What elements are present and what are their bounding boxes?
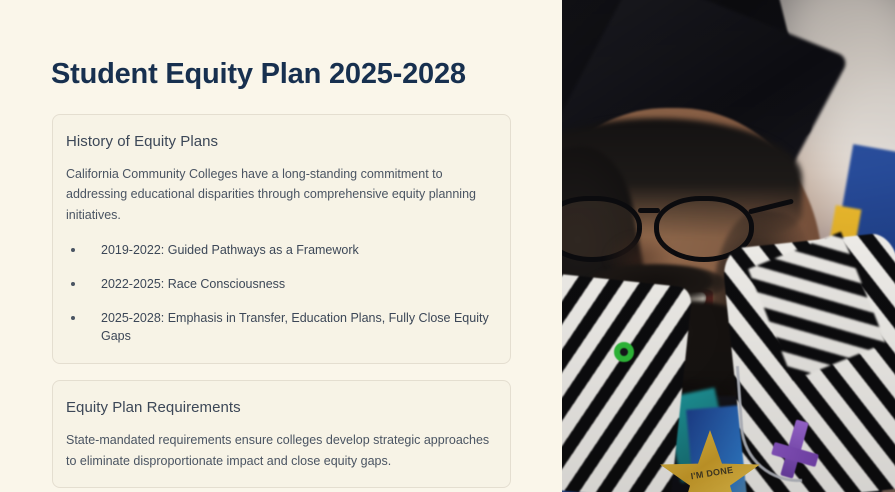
list-item-label: 2022-2025: Race Consciousness <box>101 277 285 291</box>
card-title: History of Equity Plans <box>65 133 496 150</box>
bullet-dot-icon <box>71 316 75 320</box>
list-item: 2025-2028: Emphasis in Transfer, Educati… <box>65 309 496 345</box>
graduate-photo: I'M DONE <box>562 0 895 492</box>
card-body: California Community Colleges have a lon… <box>65 164 495 225</box>
bullet-dot-icon <box>71 282 75 286</box>
list-item-label: 2019-2022: Guided Pathways as a Framewor… <box>101 243 359 257</box>
green-bead-icon <box>614 342 634 362</box>
card-body: State-mandated requirements ensure colle… <box>65 430 495 471</box>
card-list: History of Equity Plans California Commu… <box>52 114 511 488</box>
striped-scarf-left <box>562 269 693 492</box>
page-root: Student Equity Plan 2025-2028 History of… <box>0 0 895 492</box>
list-item: 2019-2022: Guided Pathways as a Framewor… <box>65 241 496 259</box>
eyeglass-bridge <box>638 208 660 213</box>
content-panel: Student Equity Plan 2025-2028 History of… <box>0 0 562 492</box>
list-item-label: 2025-2028: Emphasis in Transfer, Educati… <box>101 311 489 343</box>
card-history-of-equity-plans[interactable]: History of Equity Plans California Commu… <box>52 114 511 364</box>
bullet-dot-icon <box>71 248 75 252</box>
eyeglass-temple <box>748 199 794 215</box>
equity-plan-history-list: 2019-2022: Guided Pathways as a Framewor… <box>65 241 496 345</box>
page-title: Student Equity Plan 2025-2028 <box>51 56 466 92</box>
card-title: Equity Plan Requirements <box>65 399 496 416</box>
card-equity-plan-requirements[interactable]: Equity Plan Requirements State-mandated … <box>52 380 511 488</box>
list-item: 2022-2025: Race Consciousness <box>65 275 496 293</box>
